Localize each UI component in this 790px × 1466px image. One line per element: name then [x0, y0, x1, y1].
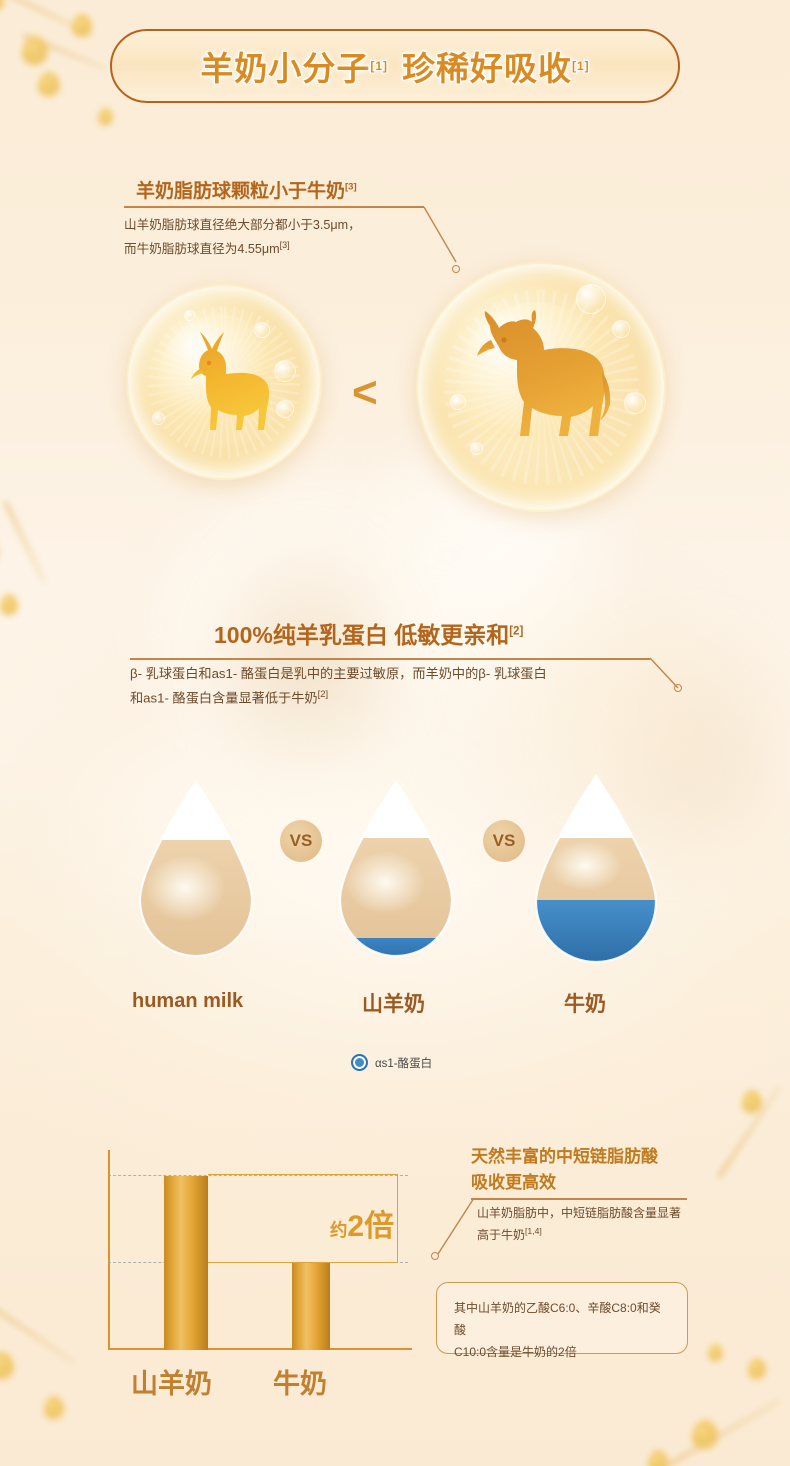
- vs-badge-2: VS: [483, 820, 525, 862]
- title-part-2: 珍稀好吸收: [402, 42, 572, 90]
- droplet-label-cow-milk: 牛奶: [564, 988, 606, 1018]
- title-banner: 羊奶小分子[1]珍稀好吸收[1]: [110, 29, 680, 103]
- bubble-decoration: [450, 394, 466, 410]
- bubble-decoration: [276, 400, 294, 418]
- section1-body-line1: 山羊奶脂肪球直径绝大部分都小于3.5μm，: [124, 214, 444, 237]
- section1-body: 山羊奶脂肪球直径绝大部分都小于3.5μm， 而牛奶脂肪球直径为4.55μm[3]: [124, 214, 444, 262]
- section2-heading: 100%纯羊乳蛋白 低敏更亲和[2]: [214, 616, 523, 650]
- infographic-page: 羊奶小分子[1]珍稀好吸收[1] 羊奶脂肪球颗粒小于牛奶[3] 山羊奶脂肪球直径…: [0, 0, 790, 1466]
- droplet-label-goat-milk: 山羊奶: [362, 988, 425, 1018]
- bubble-decoration: [624, 392, 646, 414]
- section3-note-line2: C10:0含量是牛奶的2倍: [454, 1341, 670, 1363]
- section1-heading-sup: [3]: [345, 182, 357, 193]
- droplet-label-human-milk: human milk: [132, 990, 243, 1013]
- section2-body-line2: 和as1- 酪蛋白含量显著低于牛奶[2]: [130, 686, 670, 711]
- section1-body-line2: 而牛奶脂肪球直径为4.55μm[3]: [124, 237, 444, 261]
- section2-leader-endpoint: [674, 684, 682, 692]
- droplet-human-milk: [132, 778, 260, 962]
- droplet-cow-milk: [527, 772, 665, 968]
- section3-note-box: 其中山羊奶的乙酸C6:0、辛酸C8:0和癸酸 C10:0含量是牛奶的2倍: [436, 1282, 688, 1354]
- section3-heading-line1: 天然丰富的中短链脂肪酸: [471, 1142, 658, 1167]
- ratio-suffix: 倍: [364, 1210, 394, 1243]
- page-title: 羊奶小分子[1]珍稀好吸收[1]: [112, 31, 678, 101]
- chart-ratio-label: 约2倍: [330, 1201, 394, 1245]
- chart-category-label-goat: 山羊奶: [131, 1362, 212, 1401]
- chart-x-axis: [108, 1348, 412, 1350]
- title-sup-1: [1]: [370, 59, 388, 73]
- section2-heading-sup: [2]: [509, 625, 523, 637]
- section3-leader-endpoint: [431, 1252, 439, 1260]
- section2-body: β- 乳球蛋白和as1- 酪蛋白是乳中的主要过敏原，而羊奶中的β- 乳球蛋白 和…: [130, 662, 670, 711]
- section1-divider: [124, 206, 424, 208]
- chart-bar-cow-milk: [292, 1263, 330, 1350]
- cow-fat-globule: [416, 262, 666, 512]
- goat-fat-globule: [126, 284, 322, 480]
- section3-body-line1: 山羊奶脂肪中，中短链脂肪酸含量显著: [477, 1202, 692, 1224]
- title-part-1: 羊奶小分子: [200, 42, 370, 90]
- casein-legend: αs1-酪蛋白: [351, 1054, 432, 1071]
- chart-category-label-cow: 牛奶: [273, 1362, 327, 1401]
- section2-body-line1: β- 乳球蛋白和as1- 酪蛋白是乳中的主要过敏原，而羊奶中的β- 乳球蛋白: [130, 662, 670, 686]
- less-than-comparator: <: [352, 371, 378, 415]
- section1-leader-endpoint: [452, 265, 460, 273]
- section1-heading-text: 羊奶脂肪球颗粒小于牛奶: [136, 181, 345, 202]
- casein-marker-icon: [351, 1054, 368, 1071]
- bubble-decoration: [184, 310, 195, 321]
- section3-body-line2: 高于牛奶[1,4]: [477, 1224, 692, 1246]
- section1-heading: 羊奶脂肪球颗粒小于牛奶[3]: [136, 176, 357, 203]
- section3-divider: [471, 1198, 687, 1200]
- goat-silhouette-icon: [178, 330, 278, 438]
- chart-bar-goat-milk: [164, 1176, 208, 1350]
- droplet-goat-milk: [332, 778, 460, 962]
- ratio-value: 2: [347, 1210, 364, 1243]
- bubble-decoration: [152, 412, 165, 425]
- casein-legend-label: αs1-酪蛋白: [375, 1055, 432, 1071]
- section2-divider: [130, 658, 650, 660]
- title-sup-2: [1]: [572, 59, 590, 73]
- section3-heading-line2: 吸收更高效: [471, 1168, 556, 1193]
- fatty-acid-bar-chart: [108, 1150, 428, 1350]
- chart-y-axis: [108, 1150, 110, 1350]
- section2-heading-text: 100%纯羊乳蛋白 低敏更亲和: [214, 622, 509, 648]
- ratio-prefix: 约: [330, 1220, 347, 1240]
- section3-note-line1: 其中山羊奶的乙酸C6:0、辛酸C8:0和癸酸: [454, 1297, 670, 1341]
- section3-body: 山羊奶脂肪中，中短链脂肪酸含量显著 高于牛奶[1,4]: [477, 1202, 692, 1246]
- cow-silhouette-icon: [474, 310, 616, 450]
- vs-badge-1: VS: [280, 820, 322, 862]
